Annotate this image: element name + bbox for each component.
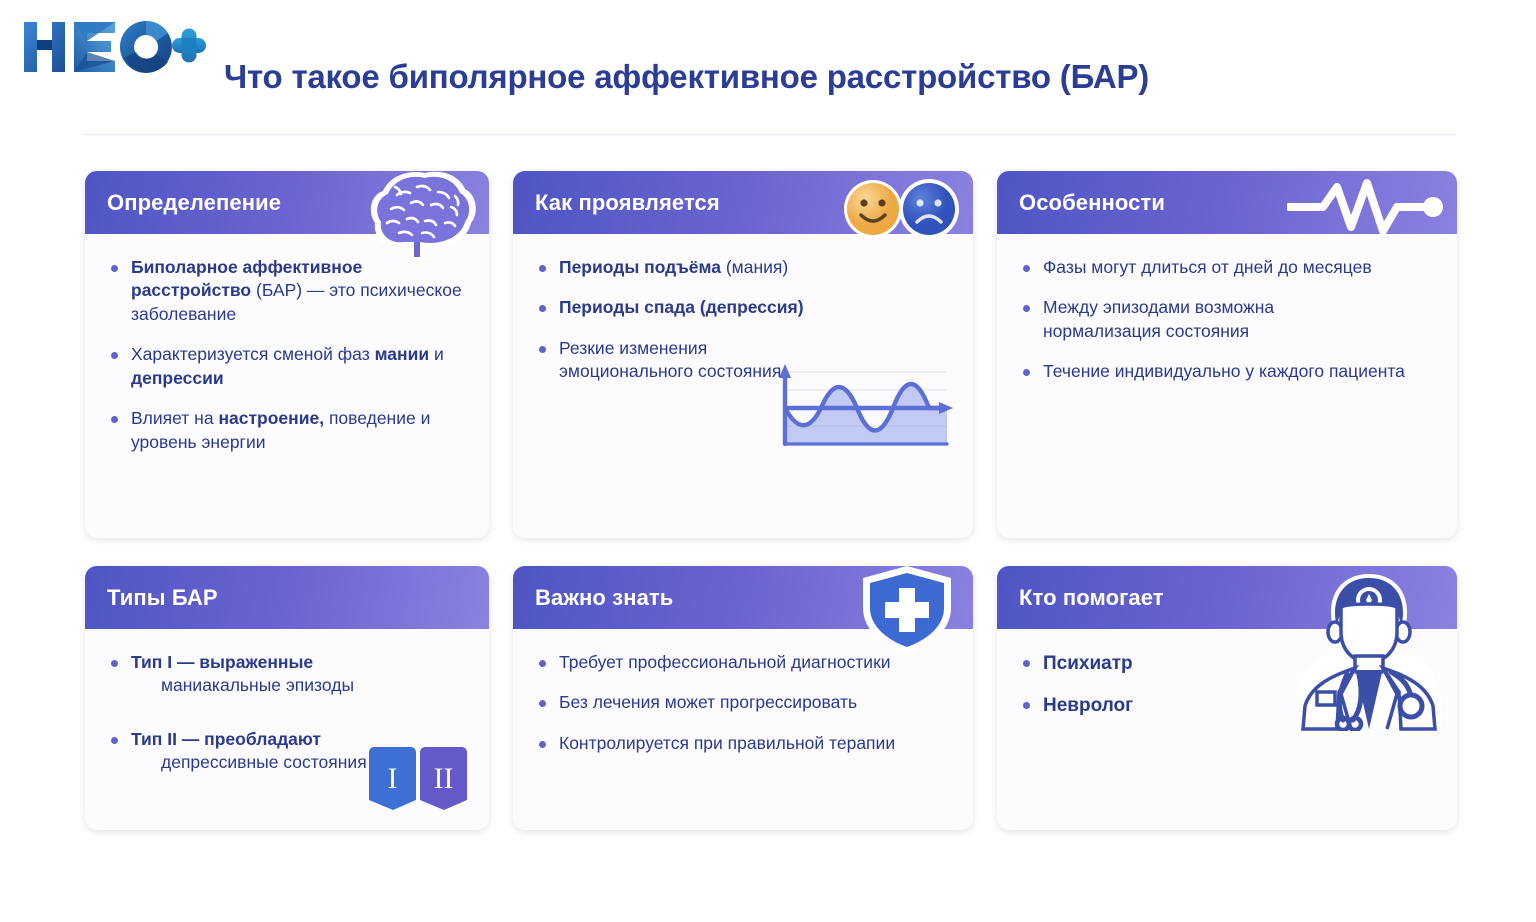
bullet-bold-lead: Невролог bbox=[1043, 695, 1133, 716]
bullet-list: Тип I — выраженные маниакальные эпизоды … bbox=[107, 651, 467, 775]
card-content: Тип I — выраженные маниакальные эпизоды … bbox=[85, 629, 489, 775]
bullet-lead: Резкие изменения эмоционального состояни… bbox=[559, 338, 781, 381]
bullet-list: Психиатр Невролог bbox=[1019, 651, 1435, 719]
card-header-manifestation: Как проявляется bbox=[513, 171, 973, 234]
bullet-list: Требует профессиональной диагностики Без… bbox=[535, 651, 951, 755]
list-item: Требует профессиональной диагностики bbox=[535, 651, 951, 674]
card-title: Кто помогает bbox=[1019, 585, 1164, 611]
card-features: Особенности Фазы могут длиться от дней д… bbox=[997, 171, 1457, 538]
card-title: Как проявляется bbox=[535, 190, 720, 216]
bullet-indent: маниакальные эпизоды bbox=[131, 674, 467, 697]
bullet-bold-mid: настроение, bbox=[218, 408, 324, 428]
list-item: Психиатр bbox=[1019, 651, 1435, 676]
bullet-lead: Между эпизодами возможна нормализация со… bbox=[1043, 297, 1274, 340]
page-header: Что такое биполярное аффективное расстро… bbox=[0, 0, 1536, 135]
card-header-important: Важно знать bbox=[513, 566, 973, 629]
card-definition: Определепение bbox=[85, 171, 489, 538]
bullet-list: Биполарное аффективное расстройство (БАР… bbox=[107, 256, 467, 454]
neo-plus-logo bbox=[18, 16, 208, 78]
bullet-bold-lead: Тип I — выраженные bbox=[131, 652, 313, 672]
bullet-lead: Без лечения может прогрессировать bbox=[559, 692, 857, 712]
bullet-rest: (мания) bbox=[721, 257, 788, 277]
bullet-bold-lead: Психиатр bbox=[1043, 653, 1133, 674]
bullet-lead: Фазы могут длиться от дней до месяцев bbox=[1043, 257, 1372, 277]
card-header-features: Особенности bbox=[997, 171, 1457, 234]
card-content: Требует профессиональной диагностики Без… bbox=[513, 629, 973, 755]
list-item: Характеризуется сменой фаз мании и депре… bbox=[107, 343, 467, 390]
bullet-bold-lead: Периоды спада (депрессия) bbox=[559, 297, 804, 317]
list-item: Биполарное аффективное расстройство (БАР… bbox=[107, 256, 467, 326]
bullet-bold-mid: мании bbox=[375, 344, 430, 364]
list-item: Влияет на настроение, поведение и уровен… bbox=[107, 407, 467, 454]
title-divider bbox=[82, 134, 1456, 135]
card-content: Периоды подъёма (мания) Периоды спада (д… bbox=[513, 234, 973, 384]
bullet-bold-tail: депрессии bbox=[131, 368, 224, 388]
list-item: Резкие изменения эмоционального состояни… bbox=[535, 337, 785, 384]
card-header-types: Типы БАР bbox=[85, 566, 489, 629]
list-item: Контролируется при правильной терапии bbox=[535, 732, 951, 755]
bullet-bold-lead: Тип II — преобладают bbox=[131, 729, 321, 749]
bullet-lead: Течение индивидуально у каждого пациента bbox=[1043, 361, 1405, 381]
bullet-lead: Требует профессиональной диагностики bbox=[559, 652, 891, 672]
card-important: Важно знать Требует профессиональной диа… bbox=[513, 566, 973, 830]
card-title: Определепение bbox=[107, 190, 281, 216]
bullet-list: Периоды подъёма (мания) Периоды спада (д… bbox=[535, 256, 951, 384]
list-item: Между эпизодами возможна нормализация со… bbox=[1019, 296, 1319, 343]
card-title: Особенности bbox=[1019, 190, 1165, 216]
bullet-bold-lead: Периоды подъёма bbox=[559, 257, 721, 277]
list-item: Невролог bbox=[1019, 693, 1435, 718]
card-content: Биполарное аффективное расстройство (БАР… bbox=[85, 234, 489, 454]
list-item: Течение индивидуально у каждого пациента bbox=[1019, 360, 1435, 383]
card-types: Типы БАР I II Тип I — выраженные маниака… bbox=[85, 566, 489, 830]
card-grid: Определепение bbox=[85, 171, 1457, 830]
bullet-mid: и bbox=[429, 344, 444, 364]
bullet-lead: Контролируется при правильной терапии bbox=[559, 733, 895, 753]
card-who-helps: Кто помогает bbox=[997, 566, 1457, 830]
list-item: Периоды спада (депрессия) bbox=[535, 296, 951, 319]
bullet-lead: Характеризуется сменой фаз bbox=[131, 344, 375, 364]
card-title: Типы БАР bbox=[107, 585, 218, 611]
list-item: Тип II — преобладают депрессивные состоя… bbox=[107, 728, 467, 775]
card-header-definition: Определепение bbox=[85, 171, 489, 234]
card-title: Важно знать bbox=[535, 585, 673, 611]
bullet-indent: депрессивные состояния bbox=[131, 751, 467, 774]
card-manifestation: Как проявляется bbox=[513, 171, 973, 538]
bullet-list: Фазы могут длиться от дней до месяцев Ме… bbox=[1019, 256, 1435, 384]
list-item: Фазы могут длиться от дней до месяцев bbox=[1019, 256, 1435, 279]
card-header-who-helps: Кто помогает bbox=[997, 566, 1457, 629]
list-item: Без лечения может прогрессировать bbox=[535, 691, 951, 714]
card-content: Фазы могут длиться от дней до месяцев Ме… bbox=[997, 234, 1457, 384]
bullet-lead: Влияет на bbox=[131, 408, 218, 428]
list-item: Тип I — выраженные маниакальные эпизоды bbox=[107, 651, 467, 698]
list-item: Периоды подъёма (мания) bbox=[535, 256, 951, 279]
page-title: Что такое биполярное аффективное расстро… bbox=[224, 58, 1149, 96]
card-content: Психиатр Невролог bbox=[997, 629, 1457, 719]
